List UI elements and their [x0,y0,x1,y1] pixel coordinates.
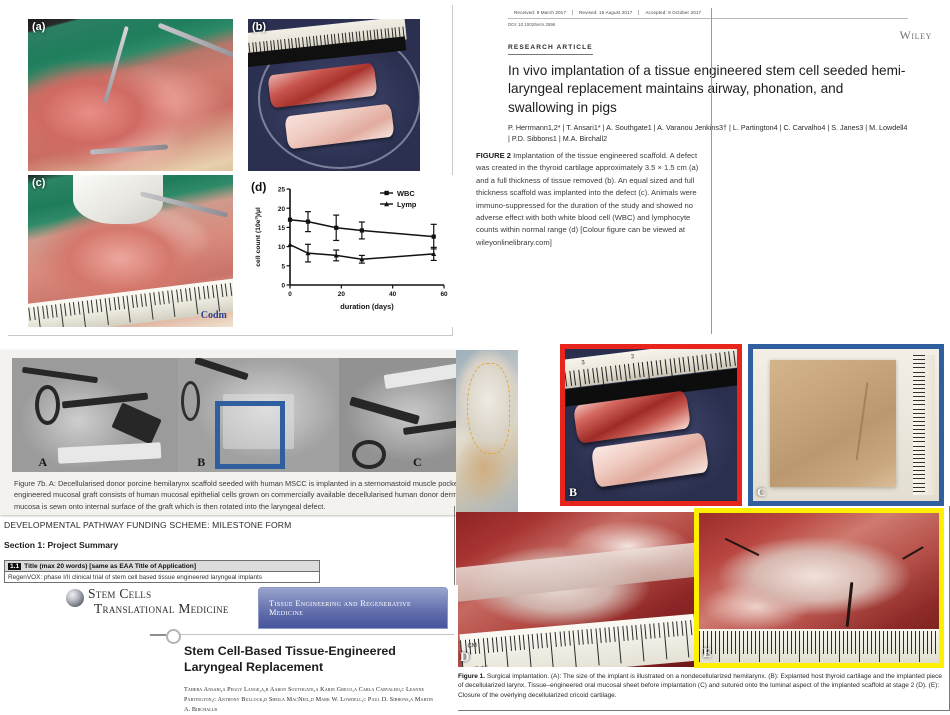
svg-text:25: 25 [278,187,286,194]
svg-text:Lymp: Lymp [397,200,417,209]
figure1-caption-label: Figure 1. [458,673,485,680]
figure1-label-d: D [460,649,469,665]
figure7b-image-strip: A B C [12,358,500,472]
doi-text: DOI: 10.1002/term.2596 [508,22,555,27]
fig7b-label-c: C [413,455,422,470]
figure2-caption-label: FIGURE 2 [476,151,511,160]
svg-text:(d): (d) [251,180,266,194]
sctm-section-banner: Tissue Engineering and Regenerative Medi… [258,587,448,629]
figure1-photo-b: 32 B [560,344,742,506]
figure1-caption-text: Surgical implantation. (A): The size of … [458,673,942,699]
implant-outline-marking [467,363,510,454]
oral-mucosal-sheet [770,360,896,488]
form-title-field-label: 1.1Title (max 20 words) [same as EAA Tit… [5,561,319,572]
photo-panel-b: (b) [248,19,420,171]
wiley-logo: Wiley [899,28,932,43]
fig7b-label-a: A [39,455,48,470]
milestone-form-document: DEVELOPMENTAL PATHWAY FUNDING SCHEME: MI… [0,518,360,588]
svg-text:5: 5 [281,263,285,270]
wiley-article-page: Received: 9 March 2017 Revised: 15 Augus… [468,0,950,340]
figure2-caption-text: Implantation of the tissue engineered sc… [476,151,698,247]
chart-panel-d: 05101520250204060WBCLympduration (days)c… [248,175,453,327]
photo-panel-a: (a) [28,19,233,171]
sctm-name-line2: Translational Medicine [94,602,229,617]
svg-text:40: 40 [389,291,397,298]
figure2-caption: FIGURE 2 Implantation of the tissue engi… [476,150,704,249]
sctm-logo-icon [66,589,84,607]
figure2-image-panel: (a) (b) Codm (c) 05101520250204060WBCLym… [8,5,453,336]
sctm-article-authors: Tahera Ansari,a Peggy Lange,a,b Aaron So… [184,685,439,715]
sctm-article-title: Stem Cell-Based Tissue-Engineered Laryng… [184,643,429,675]
svg-text:0: 0 [288,291,292,298]
figure7b-panel: A B C Figure 7b. A: Decellularised donor… [0,350,510,515]
fig7b-label-b: B [197,455,205,470]
column-divider [711,8,712,334]
svg-text:0: 0 [281,283,285,290]
svg-text:10: 10 [278,244,286,251]
sctm-banner-text: Tissue Engineering and Regenerative Medi… [259,599,447,617]
svg-text:20: 20 [338,291,346,298]
figure1-label-c: C [757,485,766,500]
svg-text:60: 60 [440,291,448,298]
form-field-number: 1.1 [8,563,21,570]
accepted-date: Accepted: 9 October 2017 [639,10,707,15]
article-type-label: RESEARCH ARTICLE [508,44,593,55]
ruler-E [699,629,939,668]
figure1-photo-d: CM INCHES D [456,512,701,667]
figure1-photo-c: C [748,344,944,506]
revised-date: Revised: 15 August 2017 [573,10,639,15]
form-heading: DEVELOPMENTAL PATHWAY FUNDING SCHEME: MI… [4,520,291,530]
svg-text:15: 15 [278,225,286,232]
sctm-bullet-icon [166,629,181,644]
sctm-dash-mark [150,634,166,636]
svg-text:20: 20 [278,206,286,213]
cell-count-line-chart: 05101520250204060WBCLympduration (days)c… [248,175,453,327]
sctm-divider [154,634,454,635]
panel-label-c: (c) [32,177,45,189]
sctm-journal-page: Stem Cells Translational Medicine Tissue… [58,585,458,712]
fig7b-image-a: A [12,358,178,472]
article-authors: P. Herrmann1,2* | T. Ansari1* | A. South… [508,122,908,144]
figure1-photo-a [456,350,518,515]
sctm-name-line1: Stem Cells [88,586,151,601]
sctm-journal-name: Stem Cells Translational Medicine [88,587,229,617]
ruler-C [913,355,935,495]
svg-text:cell count (10e³)/µl: cell count (10e³)/µl [255,207,262,267]
panel-label-b: (b) [252,21,266,33]
figure1-label-e: E [703,645,712,661]
panel-label-a: (a) [32,21,45,33]
received-date: Received: 9 March 2017 [508,10,573,15]
figure1-label-b: B [569,485,577,500]
figure7b-caption: Figure 7b. A: Decellularised donor porci… [14,478,494,512]
figure1-caption: Figure 1. Surgical implantation. (A): Th… [458,672,946,700]
form-section-heading: Section 1: Project Summary [4,540,118,550]
form-title-field[interactable]: 1.1Title (max 20 words) [same as EAA Tit… [4,560,320,583]
article-title: In vivo implantation of a tissue enginee… [508,62,908,117]
form-field-value: RegenVOX: phase I/II clinical trial of s… [5,572,319,582]
svg-text:duration (days): duration (days) [340,302,394,311]
blue-highlight-box-fig7b [215,401,285,469]
figure1-photo-e: E [694,508,944,668]
gloved-hand-icon [73,175,163,224]
ruler-brand-mark: Codm [201,310,227,321]
photo-panel-c: Codm (c) [28,175,233,327]
form-field-label-text: Title (max 20 words) [same as EAA Title … [24,563,196,570]
article-history-line: Received: 9 March 2017 Revised: 15 Augus… [508,10,908,19]
svg-text:WBC: WBC [397,189,415,198]
